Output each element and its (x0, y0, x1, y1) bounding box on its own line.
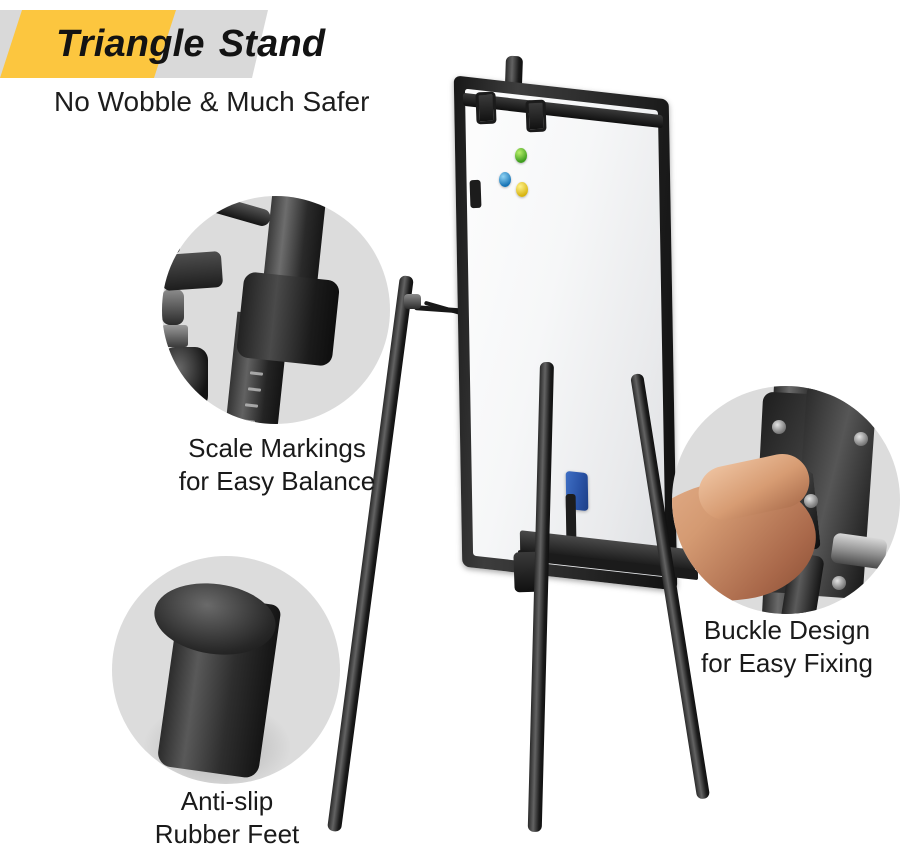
rubber-foot-caption: Anti-slip Rubber Feet (100, 785, 354, 850)
caption-line-2: for Easy Fixing (662, 647, 912, 680)
caption-line-1: Anti-slip (100, 785, 354, 818)
clamp-arm (162, 251, 223, 291)
caption-line-2: for Easy Balance (150, 465, 404, 498)
knob-stem (162, 325, 188, 347)
scale-markings-inset (162, 196, 390, 424)
screw-icon (772, 420, 786, 434)
tightening-knob (162, 347, 208, 409)
tube-collar-clamp (236, 271, 340, 367)
screw-icon (832, 576, 846, 590)
scale-markings-caption: Scale Markings for Easy Balance (150, 432, 404, 497)
screw-icon (854, 432, 868, 446)
magnet-blue (499, 172, 511, 187)
knob-shaft (162, 289, 184, 325)
rubber-foot-inset (112, 556, 340, 784)
caption-line-1: Buckle Design (662, 614, 912, 647)
screw-icon (804, 494, 818, 508)
flipchart-clamp-right (525, 100, 546, 133)
banner-title-part1: Triangle (56, 23, 205, 66)
magnet-green (515, 148, 527, 163)
banner-title-part2: Stand (219, 23, 326, 66)
buckle-design-caption: Buckle Design for Easy Fixing (662, 614, 912, 679)
height-adjust-knob (404, 294, 421, 309)
buckle-design-inset (672, 386, 900, 614)
rod-clip (162, 212, 185, 254)
board-side-clip-top (470, 180, 482, 208)
caption-line-2: Rubber Feet (100, 818, 354, 850)
caption-line-1: Scale Markings (150, 432, 404, 465)
flipchart-clamp-left (475, 92, 496, 125)
magnet-yellow (516, 182, 528, 197)
